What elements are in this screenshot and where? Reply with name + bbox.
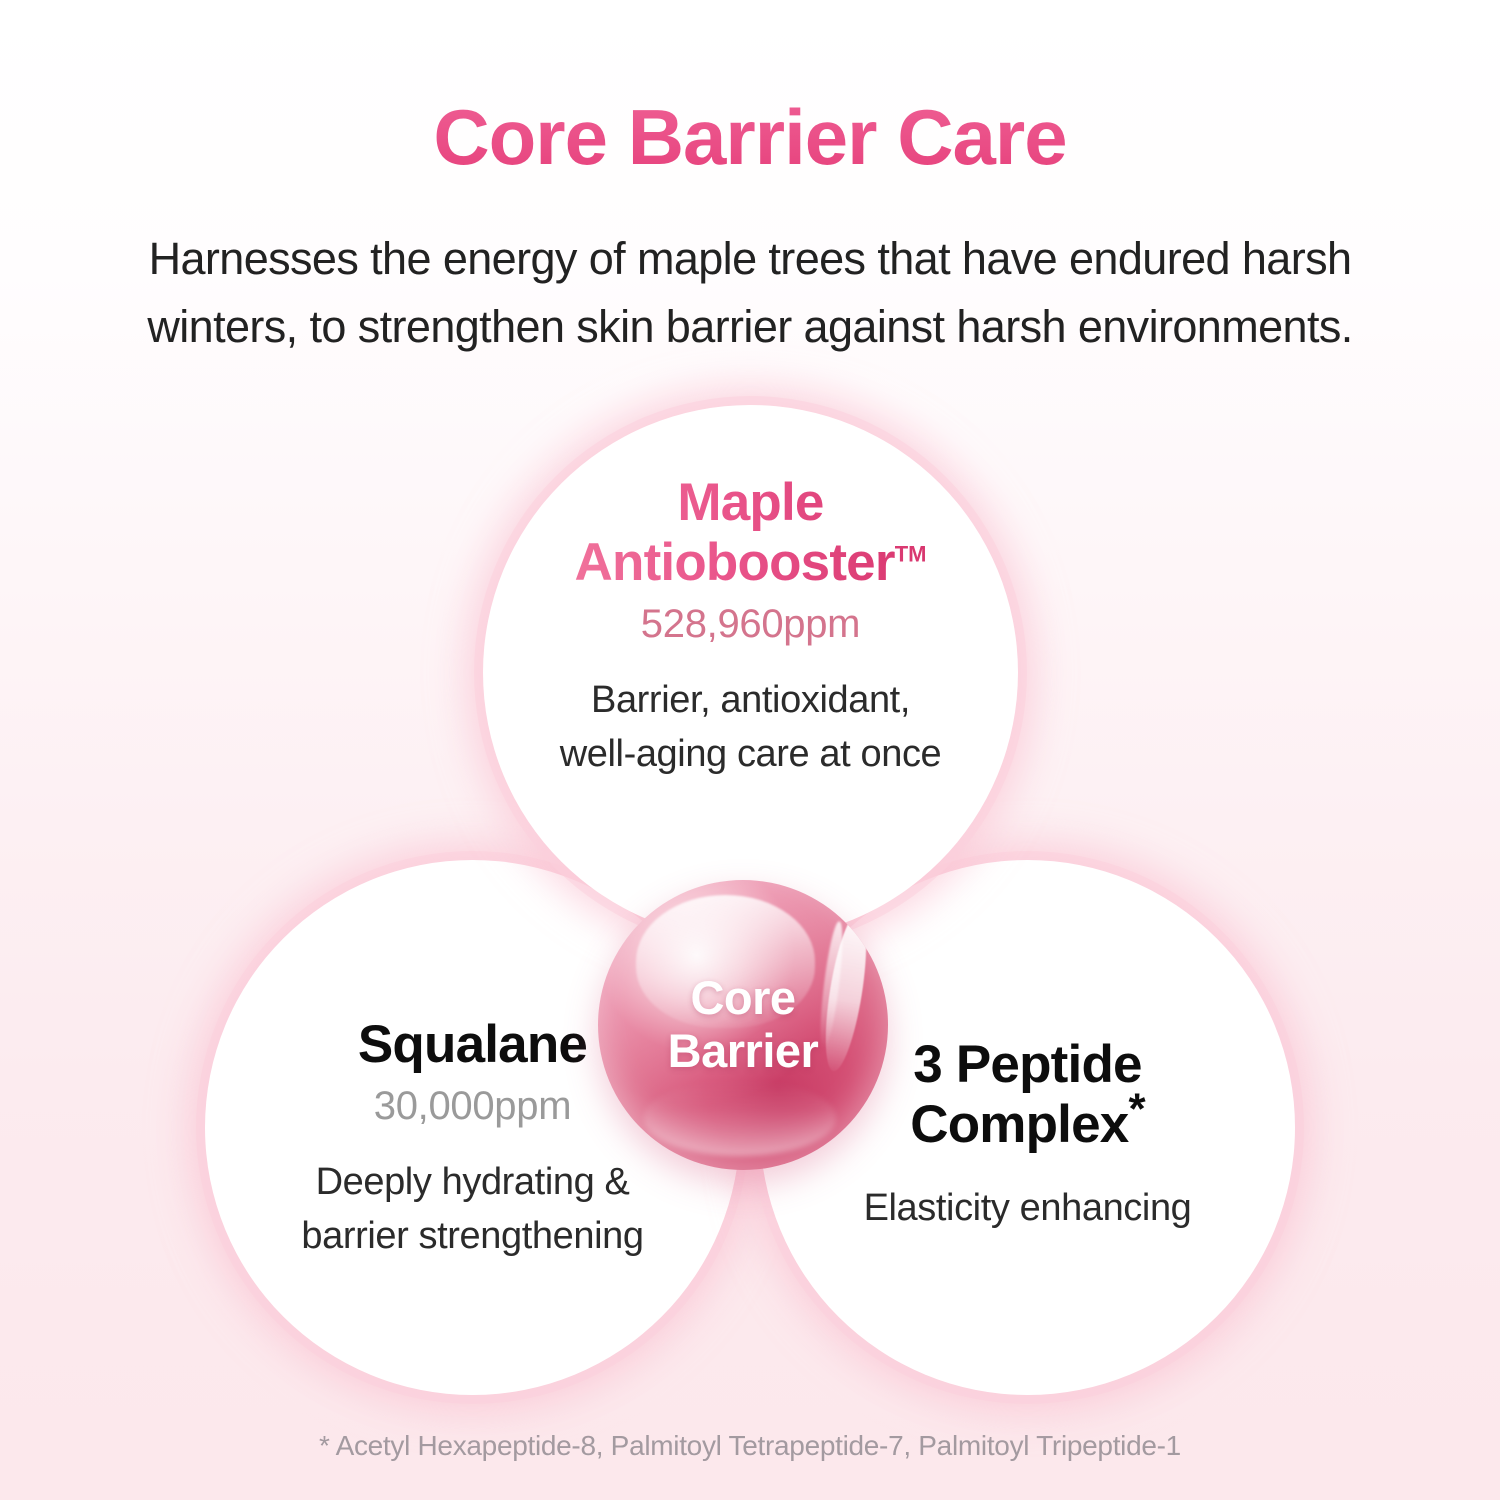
maple-antiobooster-ppm: 528,960ppm — [641, 602, 860, 647]
squalane-title: Squalane — [358, 1015, 587, 1075]
squalane-ppm: 30,000ppm — [374, 1084, 571, 1129]
page-title: Core Barrier Care — [0, 92, 1500, 183]
trademark-superscript: TM — [895, 541, 927, 566]
core-barrier-label-line-1: Core — [690, 972, 795, 1025]
maple-antiobooster-title: Maple AntioboosterTM — [575, 473, 927, 593]
peptide-title-line-1: 3 Peptide — [913, 1035, 1141, 1094]
peptide-complex-title: 3 Peptide Complex* — [910, 1035, 1145, 1155]
maple-desc-line-1: Barrier, antioxidant, — [560, 674, 942, 728]
peptide-desc-line-1: Elasticity enhancing — [864, 1182, 1192, 1236]
subtitle-line-1: Harnesses the energy of maple trees that… — [50, 225, 1450, 293]
maple-desc-line-2: well-aging care at once — [560, 728, 942, 782]
squalane-description: Deeply hydrating & barrier strengthening — [301, 1156, 643, 1264]
maple-antiobooster-description: Barrier, antioxidant, well-aging care at… — [560, 674, 942, 782]
core-barrier-sphere: Core Barrier — [598, 880, 888, 1170]
maple-antiobooster-title-line-2: Antiobooster — [575, 533, 895, 592]
core-barrier-label: Core Barrier — [598, 880, 888, 1170]
peptide-complex-description: Elasticity enhancing — [864, 1182, 1192, 1236]
footnote: * Acetyl Hexapeptide-8, Palmitoyl Tetrap… — [0, 1430, 1500, 1462]
asterisk-superscript: * — [1128, 1084, 1144, 1133]
core-barrier-label-line-2: Barrier — [668, 1025, 819, 1078]
benefit-circle-maple-antiobooster: Maple AntioboosterTM 528,960ppm Barrier,… — [483, 405, 1018, 940]
maple-antiobooster-title-line-1: Maple — [677, 473, 823, 532]
peptide-title-line-2: Complex — [910, 1095, 1128, 1154]
page-subtitle: Harnesses the energy of maple trees that… — [50, 225, 1450, 362]
squalane-desc-line-1: Deeply hydrating & — [301, 1156, 643, 1210]
squalane-desc-line-2: barrier strengthening — [301, 1210, 643, 1264]
infographic-page: Core Barrier Care Harnesses the energy o… — [0, 0, 1500, 1500]
subtitle-line-2: winters, to strengthen skin barrier agai… — [50, 293, 1450, 361]
